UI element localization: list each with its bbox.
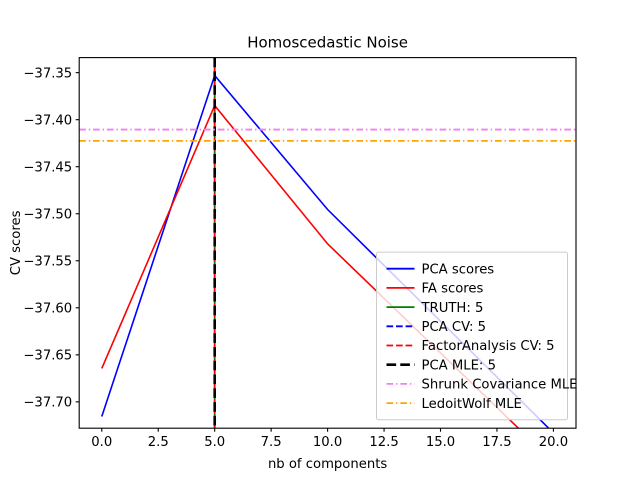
x-tick-label: 12.5: [369, 435, 398, 450]
y-tick-label: −37.70: [23, 396, 72, 411]
legend-label-factoranalysis-cv-5[interactable]: FactorAnalysis CV: 5: [422, 339, 555, 354]
legend-label-pca-cv-5[interactable]: PCA CV: 5: [422, 320, 487, 335]
y-tick-label: −37.40: [23, 113, 72, 128]
x-axis-label: nb of components: [268, 457, 387, 472]
y-tick-label: −37.60: [23, 302, 72, 317]
y-tick-label: −37.35: [23, 66, 72, 81]
y-tick-label: −37.55: [23, 254, 72, 269]
legend-label-ledoitwolf-mle[interactable]: LedoitWolf MLE: [422, 397, 522, 412]
x-tick-label: 10.0: [313, 435, 342, 450]
y-tick-label: −37.45: [23, 160, 72, 175]
legend-label-shrunk-covariance-mle[interactable]: Shrunk Covariance MLE: [422, 378, 578, 393]
legend-label-truth-5[interactable]: TRUTH: 5: [421, 301, 484, 316]
matplotlib-figure: Homoscedastic Noise0.02.55.07.510.012.51…: [0, 0, 640, 480]
x-tick-label: 17.5: [482, 435, 511, 450]
x-tick-label: 20.0: [539, 435, 568, 450]
y-tick-label: −37.50: [23, 207, 72, 222]
y-tick-label: −37.65: [23, 349, 72, 364]
x-tick-label: 7.5: [261, 435, 282, 450]
x-tick-label: 0.0: [91, 435, 112, 450]
x-tick-label: 2.5: [148, 435, 169, 450]
y-axis-label: CV scores: [9, 210, 24, 275]
x-tick-label: 5.0: [204, 435, 225, 450]
legend-label-pca-mle-5[interactable]: PCA MLE: 5: [422, 358, 496, 373]
legend-label-fa-scores[interactable]: FA scores: [422, 282, 484, 297]
chart-title: Homoscedastic Noise: [247, 34, 408, 52]
chart-canvas: Homoscedastic Noise0.02.55.07.510.012.51…: [0, 0, 640, 480]
legend-label-pca-scores[interactable]: PCA scores: [422, 262, 495, 277]
x-tick-label: 15.0: [426, 435, 455, 450]
